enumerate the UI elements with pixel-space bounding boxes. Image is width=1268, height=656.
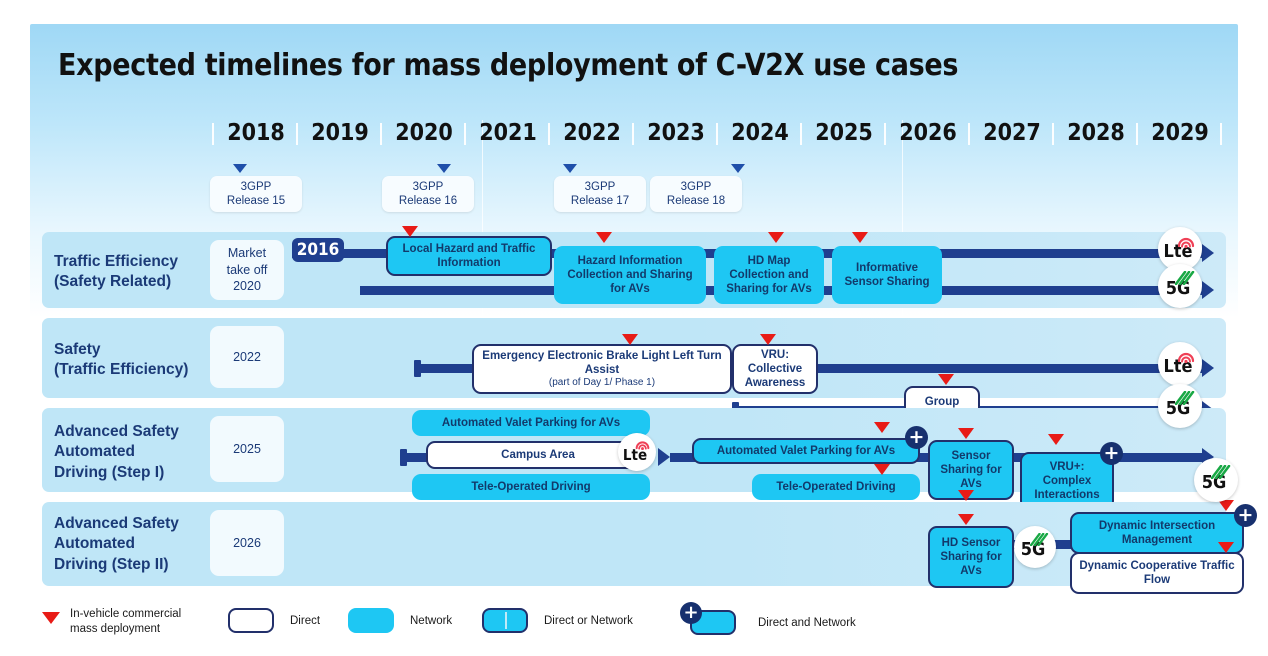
release-marker-triangle <box>233 164 247 173</box>
box-eebl[interactable]: Emergency Electronic Brake Light Left Tu… <box>472 344 732 394</box>
release-label-line2: Release 16 <box>399 194 457 208</box>
release-label-line1: 3GPP <box>585 180 616 194</box>
legend-label-direct-or-network: Direct or Network <box>544 614 633 629</box>
deployment-marker <box>1218 542 1234 553</box>
deployment-marker <box>874 422 890 433</box>
box-tod-2[interactable]: Tele-Operated Driving <box>752 474 920 500</box>
deployment-marker <box>768 232 784 243</box>
row-label-step2: Advanced Safety Automated Driving (Step … <box>54 514 179 575</box>
release-label-line2: Release 18 <box>667 194 725 208</box>
chip-line2: take off <box>227 262 268 279</box>
release-chip-15: 3GPP Release 15 <box>210 176 302 212</box>
deployment-marker <box>402 226 418 237</box>
signal-waves-icon <box>635 438 650 450</box>
axis-year-2024: 2024 <box>718 120 802 146</box>
axis-year-2023: 2023 <box>634 120 718 146</box>
row-label-line2: Automated <box>54 442 179 462</box>
row-label-line3: Driving (Step I) <box>54 463 179 483</box>
release-chip-17: 3GPP Release 17 <box>554 176 646 212</box>
release-label-line1: 3GPP <box>241 180 272 194</box>
legend-plus-badge-icon: + <box>680 602 702 624</box>
box-campus-area[interactable]: Campus Area <box>426 441 650 469</box>
signal-waves-icon <box>1175 271 1195 285</box>
direct-and-network-badge: + <box>1234 504 1257 527</box>
fiveg-badge-row2: 5G <box>1158 384 1202 428</box>
box-tod-1[interactable]: Tele-Operated Driving <box>412 474 650 500</box>
page-title: Expected timelines for mass deployment o… <box>58 48 1158 83</box>
box-eebl-label: Emergency Electronic Brake Light Left Tu… <box>479 349 725 377</box>
track-arrow-lte-row1 <box>1202 244 1214 262</box>
deployment-marker <box>622 334 638 345</box>
box-eebl-note: (part of Day 1/ Phase 1) <box>549 377 655 389</box>
row-label-line1: Advanced Safety <box>54 422 179 442</box>
infographic-page: Expected timelines for mass deployment o… <box>0 0 1268 656</box>
axis-year-2025: 2025 <box>802 120 886 146</box>
row-label-line3: Driving (Step II) <box>54 555 179 575</box>
release-label-line1: 3GPP <box>413 180 444 194</box>
legend-label-network: Network <box>410 614 452 629</box>
lte-badge-row2: Lte <box>1158 342 1202 386</box>
deployment-marker <box>958 514 974 525</box>
axis-year-2026: 2026 <box>886 120 970 146</box>
axis-year-2019: 2019 <box>298 120 382 146</box>
box-avp-1[interactable]: Automated Valet Parking for AVs <box>412 410 650 436</box>
deployment-marker <box>958 490 974 501</box>
deployment-marker <box>596 232 612 243</box>
box-dynamic-coop[interactable]: Dynamic Cooperative Traffic Flow <box>1070 552 1244 594</box>
track-arrow-row3-left <box>658 448 670 466</box>
row-label-line2: (Traffic Efficiency) <box>54 360 188 380</box>
infographic-card: Expected timelines for mass deployment o… <box>30 24 1238 636</box>
fiveg-badge-row3: 5G <box>1194 458 1238 502</box>
release-label-line1: 3GPP <box>681 180 712 194</box>
legend-swatch-direct-or-network <box>482 608 528 633</box>
box-hd-map[interactable]: HD Map Collection and Sharing for AVs <box>714 246 824 304</box>
row-label-line1: Safety <box>54 340 188 360</box>
release-label-line2: Release 15 <box>227 194 285 208</box>
deployment-marker-icon <box>42 612 60 624</box>
row-year-chip-step2: 2026 <box>210 510 284 576</box>
year-axis: 2018 2019 2020 2021 2022 2023 2024 2025 … <box>30 120 1238 154</box>
release-label-line2: Release 17 <box>571 194 629 208</box>
legend-swatch-network <box>348 608 394 633</box>
legend-deploy-line2: mass deployment <box>70 622 181 637</box>
axis-year-2020: 2020 <box>382 120 466 146</box>
row-label-line2: Automated <box>54 534 179 554</box>
axis-year-2027: 2027 <box>970 120 1054 146</box>
axis-year-2021: 2021 <box>466 120 550 146</box>
row-year-chip-safety: 2022 <box>210 326 284 388</box>
row-label-line2: (Safety Related) <box>54 272 178 292</box>
legend-deploy-line1: In-vehicle commercial <box>70 607 181 622</box>
chip-line1: 2022 <box>233 349 261 366</box>
deployment-marker <box>874 464 890 475</box>
marker-2016-pill: 2016 <box>292 238 344 262</box>
chip-line1: 2026 <box>233 535 261 552</box>
lte-badge-campus: Lte <box>618 433 656 471</box>
axis-year-2029: 2029 <box>1138 120 1222 146</box>
box-hd-sensor-sharing[interactable]: HD Sensor Sharing for AVs <box>928 526 1014 588</box>
signal-waves-icon <box>1175 391 1195 405</box>
release-chip-18: 3GPP Release 18 <box>650 176 742 212</box>
legend: In-vehicle commercial mass deployment Di… <box>42 600 1192 644</box>
row-label-line1: Advanced Safety <box>54 514 179 534</box>
axis-year-2018: 2018 <box>214 120 298 146</box>
track-arrow-5g-row1 <box>1202 281 1214 299</box>
box-hazard-info[interactable]: Hazard Information Collection and Sharin… <box>554 246 706 304</box>
signal-waves-icon <box>1177 349 1195 363</box>
deployment-marker <box>938 374 954 385</box>
fiveg-badge-row1: 5G <box>1158 264 1202 308</box>
row-label-step1: Advanced Safety Automated Driving (Step … <box>54 422 179 483</box>
axis-tick <box>1220 123 1222 145</box>
fiveg-badge-row4: 5G <box>1014 526 1056 568</box>
release-marker-triangle <box>563 164 577 173</box>
direct-and-network-badge: + <box>905 426 928 449</box>
direct-and-network-badge: + <box>1100 442 1123 465</box>
box-informative-sensor[interactable]: Informative Sensor Sharing <box>832 246 942 304</box>
chip-line1: 2025 <box>233 441 261 458</box>
deployment-marker <box>1218 500 1234 511</box>
legend-label-direct: Direct <box>290 614 320 629</box>
chip-line3: 2020 <box>233 278 261 295</box>
legend-swatch-direct <box>228 608 274 633</box>
deployment-marker <box>760 334 776 345</box>
legend-label-direct-and-network: Direct and Network <box>758 616 856 631</box>
signal-waves-icon <box>1030 533 1049 546</box>
row-year-chip-step1: 2025 <box>210 416 284 482</box>
release-marker-triangle <box>437 164 451 173</box>
box-local-hazard[interactable]: Local Hazard and Traffic Information <box>386 236 552 276</box>
deployment-marker <box>852 232 868 243</box>
row-year-chip-traffic-efficiency: Market take off 2020 <box>210 240 284 300</box>
axis-year-2022: 2022 <box>550 120 634 146</box>
track-arrow-lte-row2 <box>1202 359 1214 377</box>
row-label-traffic-efficiency: Traffic Efficiency (Safety Related) <box>54 252 178 293</box>
box-vru-collective[interactable]: VRU: Collective Awareness <box>732 344 818 394</box>
deployment-marker <box>1048 434 1064 445</box>
release-chip-16: 3GPP Release 16 <box>382 176 474 212</box>
axis-year-2028: 2028 <box>1054 120 1138 146</box>
deployment-marker <box>958 428 974 439</box>
row-label-line1: Traffic Efficiency <box>54 252 178 272</box>
box-avp-2[interactable]: Automated Valet Parking for AVs <box>692 438 920 464</box>
chip-line1: Market <box>228 245 266 262</box>
release-marker-triangle <box>731 164 745 173</box>
legend-label-deployment: In-vehicle commercial mass deployment <box>70 607 181 637</box>
signal-waves-icon <box>1211 465 1231 479</box>
row-label-safety: Safety (Traffic Efficiency) <box>54 340 188 381</box>
signal-waves-icon <box>1177 234 1195 248</box>
